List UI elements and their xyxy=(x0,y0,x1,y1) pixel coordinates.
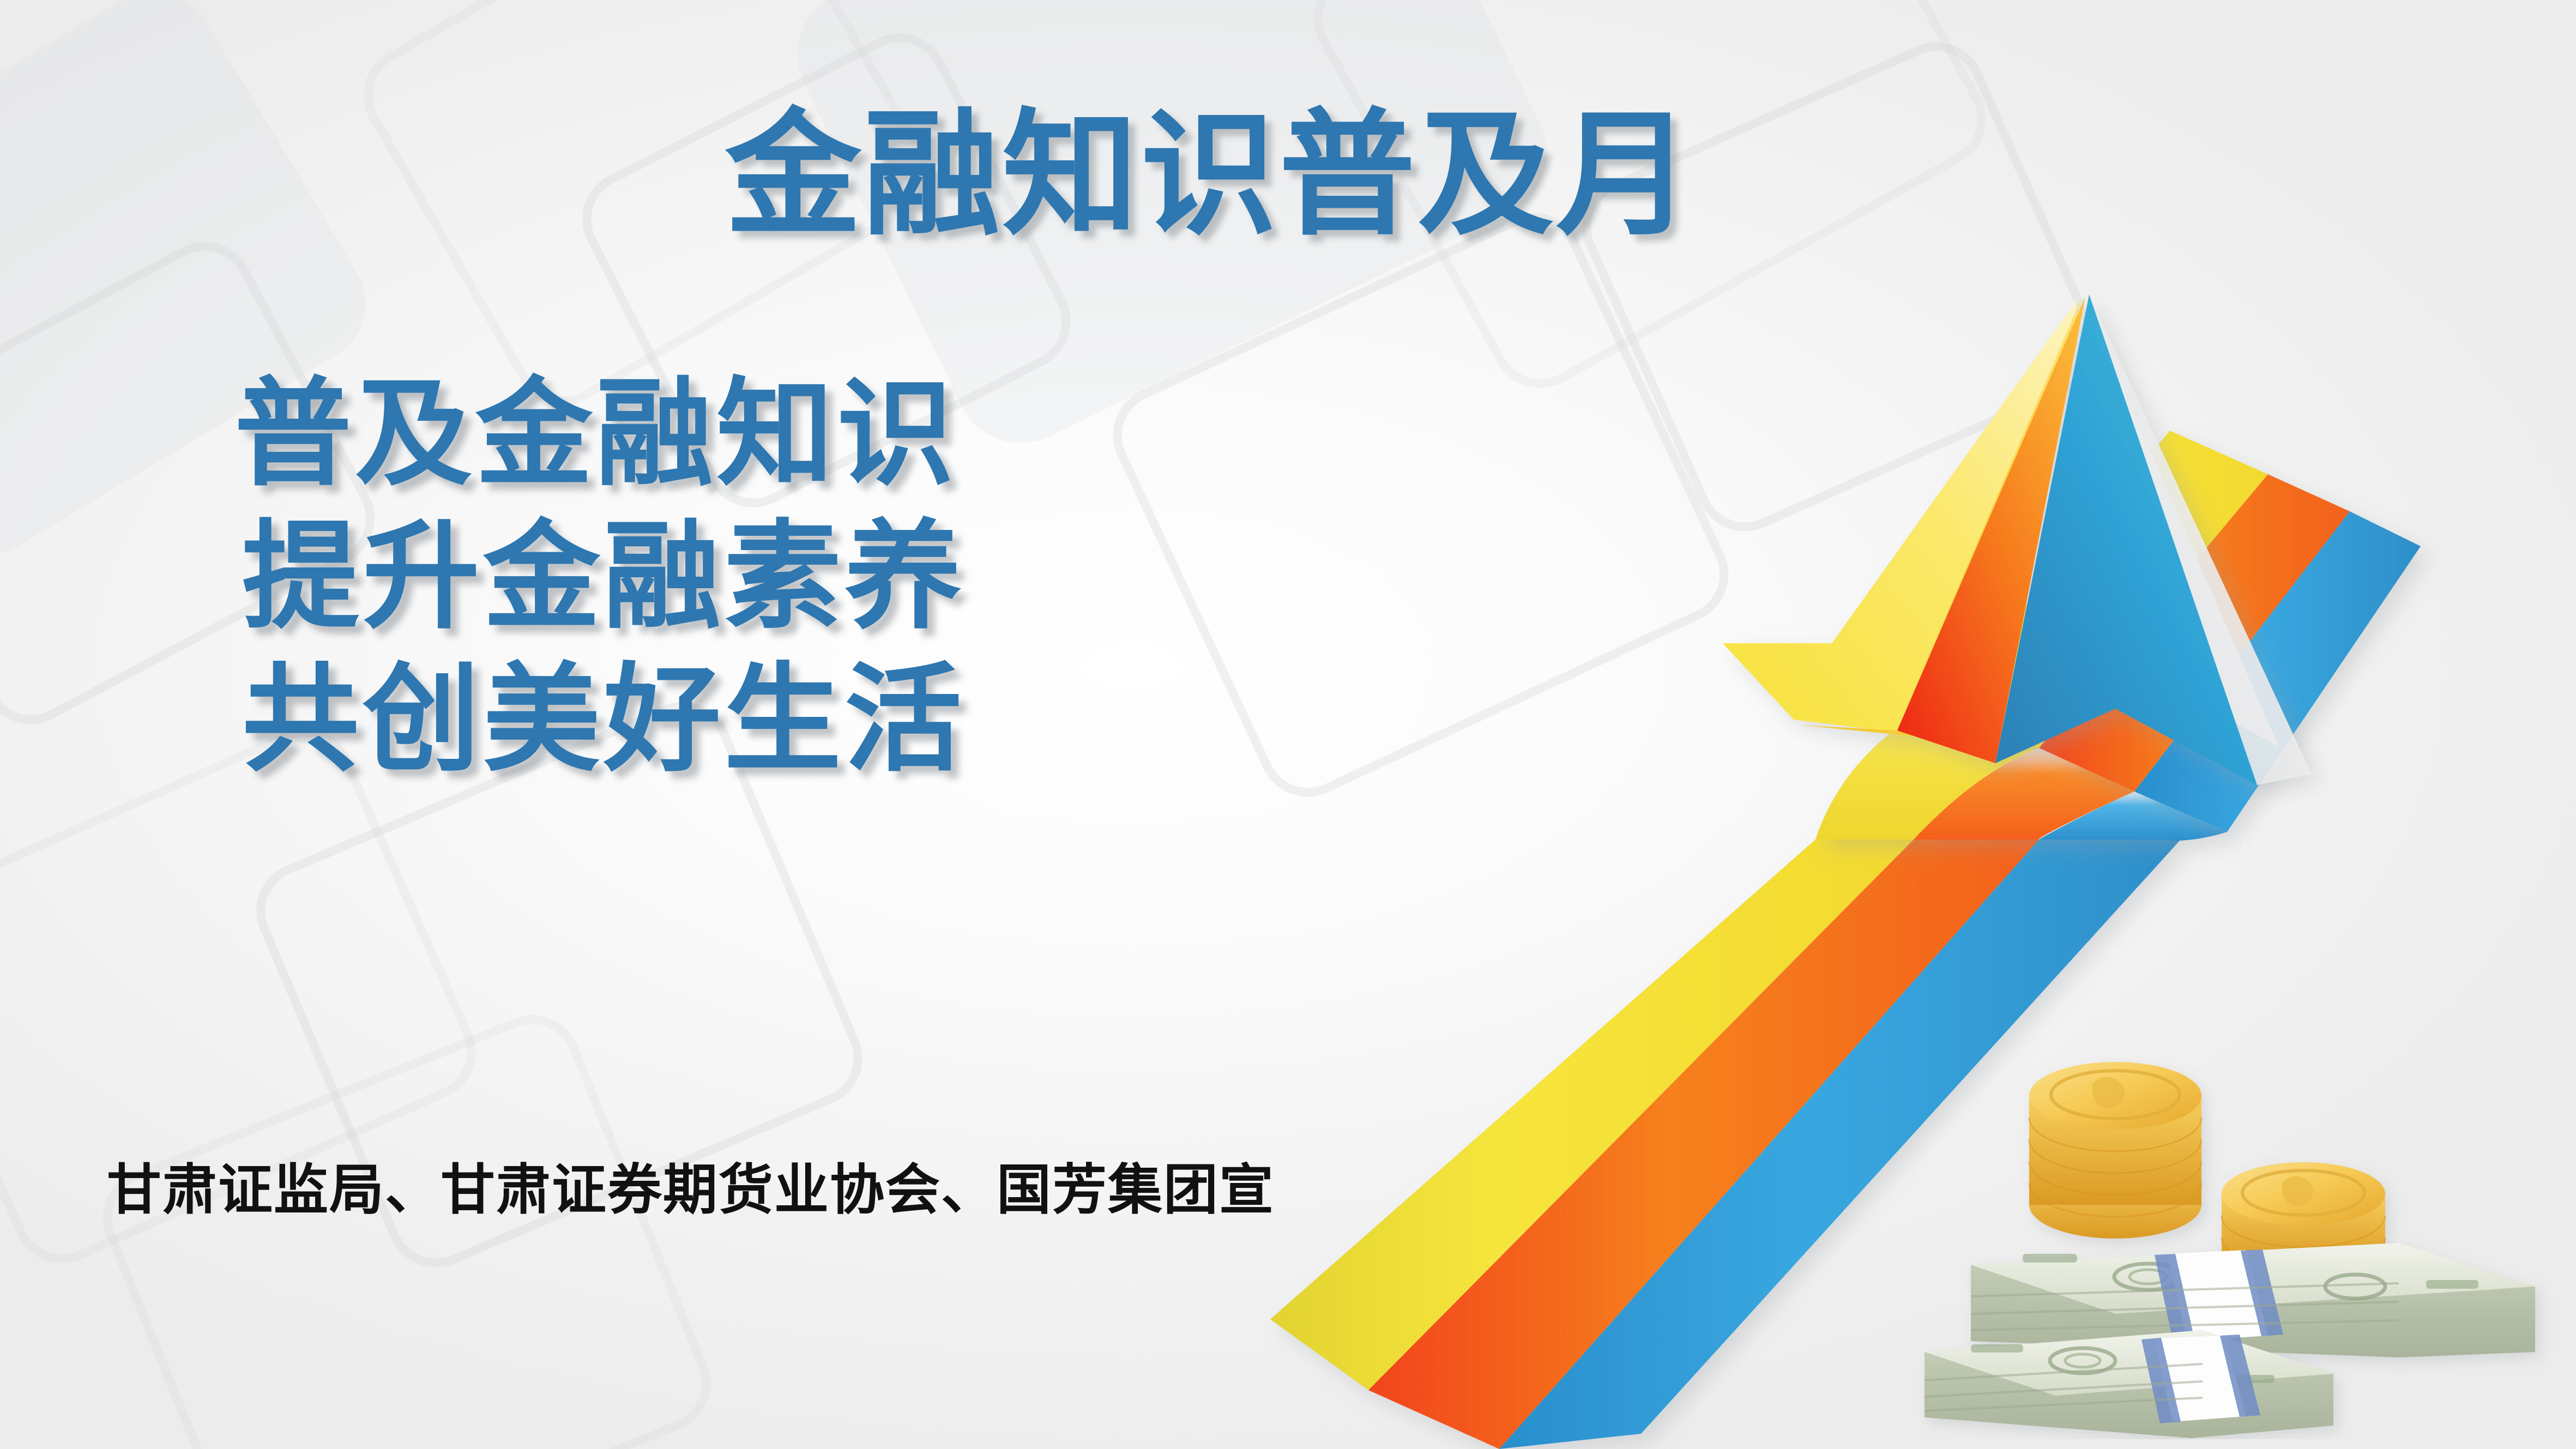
headline-block: 普及金融知识 提升金融素养 共创美好生活 xyxy=(234,371,965,783)
page-title: 金融知识普及月 xyxy=(725,107,1694,243)
money-stack-icon xyxy=(1919,959,2562,1439)
rising-arrow-icon xyxy=(1189,294,2442,1449)
issuer-credit-line: 甘肃证监局、甘肃证券期货业协会、国芳集团宣 xyxy=(107,1163,1275,1218)
headline-line-3: 共创美好生活 xyxy=(242,656,965,783)
headline-line-2: 提升金融素养 xyxy=(242,514,965,640)
headline-line-1: 普及金融知识 xyxy=(234,371,965,497)
poster-canvas: 金融知识普及月 普及金融知识 提升金融素养 共创美好生活 甘肃证监局、甘肃证券期… xyxy=(0,0,2576,1449)
